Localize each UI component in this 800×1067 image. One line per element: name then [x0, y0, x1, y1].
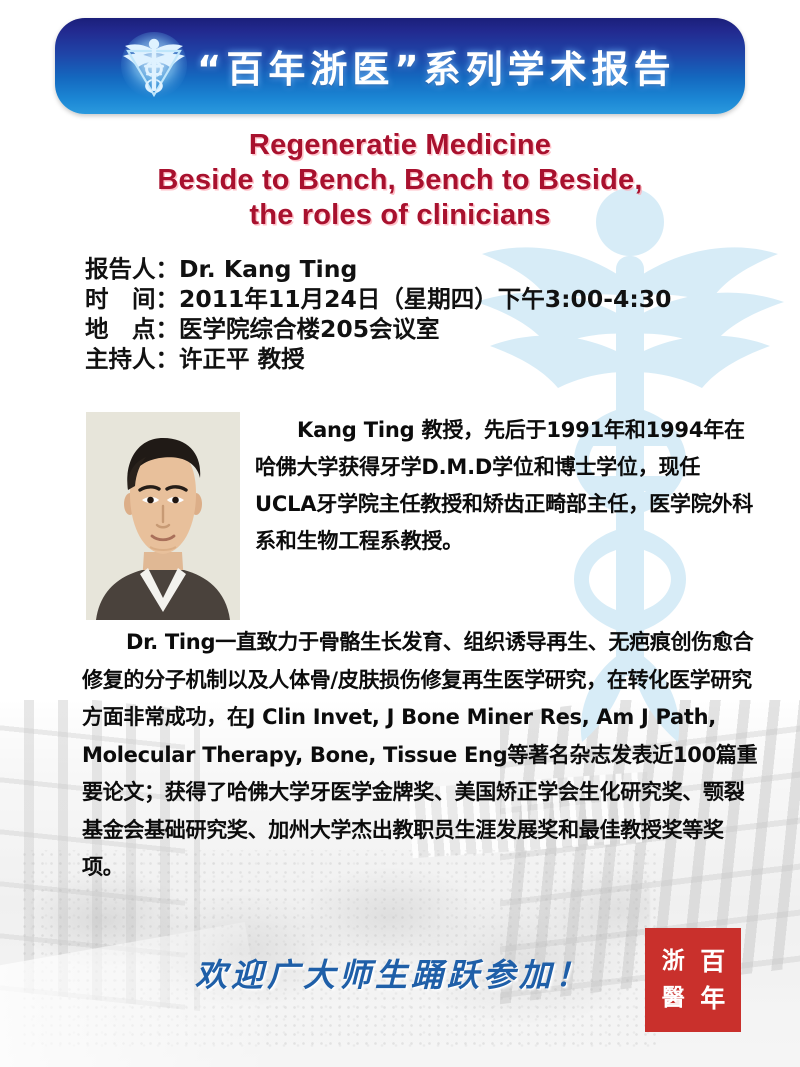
poster-canvas: “百年浙医”系列学术报告 Regeneratie Medicine Beside… — [0, 0, 800, 1067]
seal-char: 浙 — [662, 950, 685, 973]
header-banner: “百年浙医”系列学术报告 — [55, 18, 745, 114]
info-time: 时 间：2011年11月24日（星期四）下午3:00-4:30 — [85, 284, 671, 314]
info-speaker: 报告人：Dr. Kang Ting — [85, 254, 671, 284]
speaker-portrait-photo — [86, 412, 240, 620]
red-seal-stamp: 百 年 浙 醫 — [645, 928, 741, 1032]
info-place: 地 点：医学院综合楼205会议室 — [85, 314, 671, 344]
caduceus-wings-icon — [117, 31, 191, 105]
seal-char: 百 — [700, 949, 725, 974]
title-line-3: the roles of clinicians — [0, 198, 800, 233]
info-host: 主持人：许正平 教授 — [85, 344, 671, 374]
bio-paragraph-2: Dr. Ting一直致力于骨骼生长发育、组织诱导再生、无疤痕创伤愈合修复的分子机… — [82, 624, 764, 887]
seal-column-left: 浙 醫 — [654, 937, 693, 1023]
title-line-2: Beside to Bench, Bench to Beside, — [0, 163, 800, 198]
seal-char: 醫 — [662, 987, 685, 1010]
seal-char: 年 — [700, 986, 725, 1011]
event-info-block: 报告人：Dr. Kang Ting 时 间：2011年11月24日（星期四）下午… — [85, 254, 671, 374]
seal-border: 百 年 浙 醫 — [645, 928, 741, 1032]
banner-title: “百年浙医”系列学术报告 — [197, 39, 676, 93]
page-title: Regeneratie Medicine Beside to Bench, Be… — [0, 128, 800, 233]
seal-column-right: 百 年 — [694, 937, 733, 1023]
bio-paragraph-1: Kang Ting 教授，先后于1991年和1994年在哈佛大学获得牙学D.M.… — [255, 412, 760, 560]
welcome-text: 欢迎广大师生踊跃参加！ — [195, 950, 591, 996]
title-line-1: Regeneratie Medicine — [0, 128, 800, 163]
